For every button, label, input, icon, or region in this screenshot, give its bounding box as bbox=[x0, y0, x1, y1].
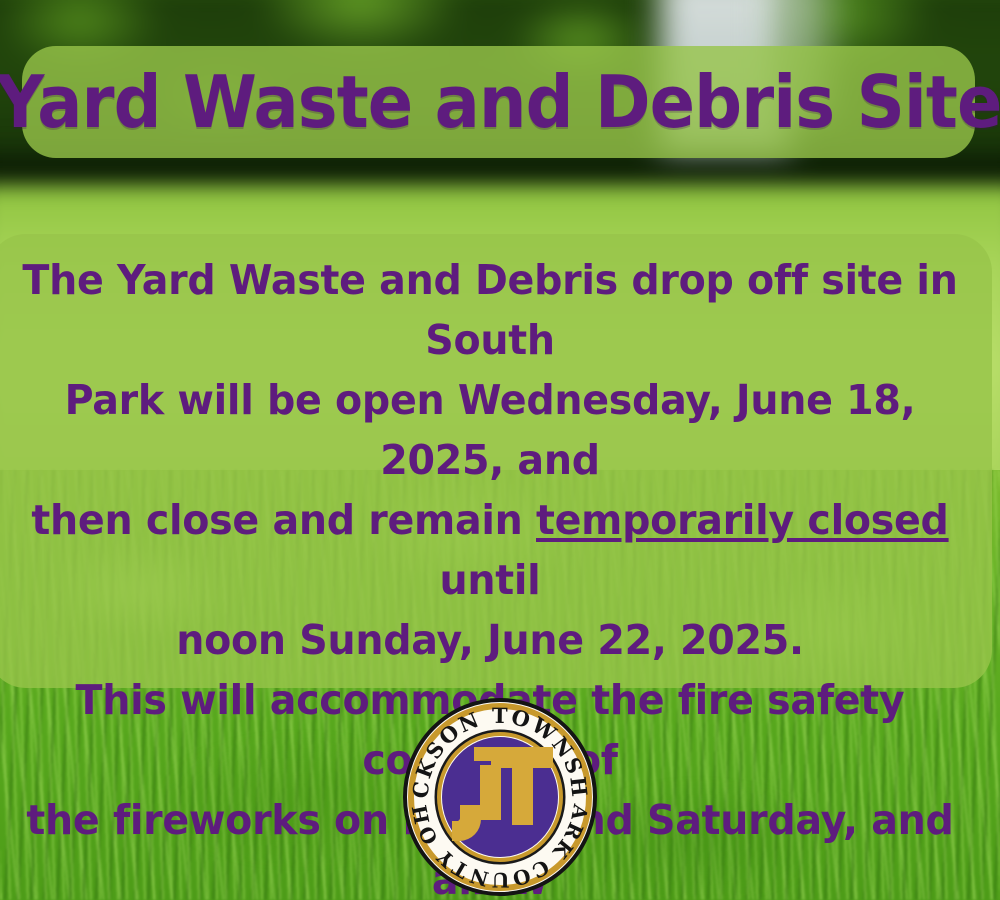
announcement-paragraph-1: The Yard Waste and Debris drop off site … bbox=[12, 250, 967, 670]
announcement-line-3-prefix: then close and remain bbox=[31, 496, 536, 544]
announcement-line-1: The Yard Waste and Debris drop off site … bbox=[22, 256, 957, 364]
page-title: Yard Waste and Debris Site bbox=[0, 66, 1000, 138]
jackson-township-seal-logo: JACKSON TOWNSHIP STARK COUNTY OHIO bbox=[402, 697, 598, 897]
poster-canvas: Yard Waste and Debris Site The Yard Wast… bbox=[0, 0, 1000, 900]
announcement-emphasis-temporarily-closed: temporarily closed bbox=[536, 496, 949, 544]
announcement-panel: The Yard Waste and Debris drop off site … bbox=[0, 234, 992, 688]
title-panel: Yard Waste and Debris Site bbox=[22, 46, 975, 158]
announcement-line-2: Park will be open Wednesday, June 18, 20… bbox=[65, 376, 916, 484]
announcement-line-4: noon Sunday, June 22, 2025. bbox=[176, 616, 803, 664]
announcement-line-3-suffix: until bbox=[440, 556, 541, 604]
